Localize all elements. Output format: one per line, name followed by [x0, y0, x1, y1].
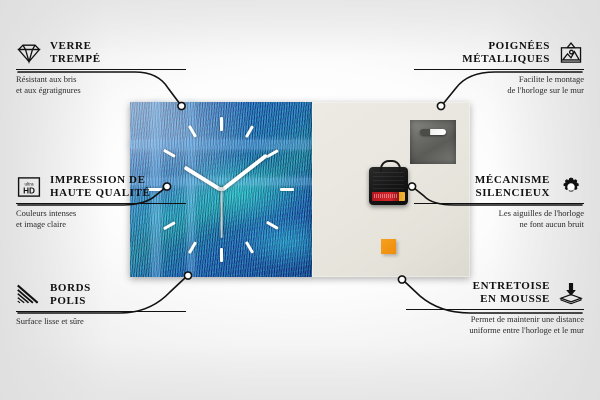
callout-divider — [406, 309, 584, 310]
callout-title-line1: IMPRESSION DE — [50, 174, 150, 187]
diagonal-stripes-icon — [16, 283, 42, 307]
diamond-icon — [16, 41, 42, 65]
press-down-foam-icon — [558, 281, 584, 305]
ultra-hd-icon: ultra HD — [16, 175, 42, 199]
callout-divider — [16, 311, 186, 312]
callout-mecanisme-silencieux[interactable]: MÉCANISME SILENCIEUX Les aiguilles de l'… — [414, 174, 584, 229]
second-hand — [221, 190, 223, 238]
foam-spacer-part — [381, 239, 396, 254]
callout-title: MÉCANISME SILENCIEUX — [475, 174, 550, 199]
quartz-movement — [369, 167, 408, 205]
callout-poignees-metalliques[interactable]: POIGNÉES MÉTALLIQUES Facilite le montage… — [414, 40, 584, 95]
callout-title-line1: BORDS — [50, 282, 91, 295]
hour-marker — [280, 188, 294, 191]
framed-picture-icon — [558, 41, 584, 65]
battery — [372, 192, 405, 201]
callout-divider — [414, 69, 584, 70]
callout-title-line1: ENTRETOISE — [473, 280, 550, 293]
callout-divider — [16, 69, 186, 70]
callout-title: VERRE TREMPÉ — [50, 40, 101, 65]
hanger-slot — [420, 129, 446, 135]
callout-subtitle: Résistant aux bris et aux égratignures — [16, 74, 186, 95]
callout-subtitle: Facilite le montage de l'horloge sur le … — [414, 74, 584, 95]
callout-header: POIGNÉES MÉTALLIQUES — [414, 40, 584, 65]
callout-impression-haute-qualite[interactable]: ultra HD IMPRESSION DE HAUTE QUALITÉ Cou… — [16, 174, 186, 229]
callout-subtitle: Couleurs intenses et image claire — [16, 208, 186, 229]
callout-title-line1: VERRE — [50, 40, 101, 53]
callout-header: ENTRETOISE EN MOUSSE — [406, 280, 584, 305]
callout-title: IMPRESSION DE HAUTE QUALITÉ — [50, 174, 150, 199]
infographic-canvas: VERRE TREMPÉ Résistant aux bris et aux é… — [0, 0, 600, 400]
callout-title-line2: SILENCIEUX — [475, 187, 550, 200]
callout-title: POIGNÉES MÉTALLIQUES — [462, 40, 550, 65]
callout-entretoise-en-mousse[interactable]: ENTRETOISE EN MOUSSE Permet de maintenir… — [406, 280, 584, 335]
callout-title-line2: HAUTE QUALITÉ — [50, 187, 150, 200]
callout-title-line2: EN MOUSSE — [473, 293, 550, 306]
callout-title-line1: MÉCANISME — [475, 174, 550, 187]
svg-text:ultra: ultra — [24, 181, 33, 186]
callout-subtitle: Permet de maintenir une distance uniform… — [406, 314, 584, 335]
callout-header: MÉCANISME SILENCIEUX — [414, 174, 584, 199]
callout-divider — [414, 203, 584, 204]
hour-marker — [220, 248, 223, 262]
callout-title: BORDS POLIS — [50, 282, 91, 307]
hands-center-cap — [219, 187, 223, 191]
callout-title-line2: TREMPÉ — [50, 53, 101, 66]
battery-label — [374, 194, 397, 198]
callout-title: ENTRETOISE EN MOUSSE — [473, 280, 550, 305]
callout-subtitle: Les aiguilles de l'horloge ne font aucun… — [414, 208, 584, 229]
callout-header: VERRE TREMPÉ — [16, 40, 186, 65]
gear-icon — [558, 175, 584, 199]
metal-hanger-part — [410, 120, 456, 164]
callout-subtitle: Surface lisse et sûre — [16, 316, 186, 327]
callout-title-line2: POLIS — [50, 295, 91, 308]
callout-verre-trempe[interactable]: VERRE TREMPÉ Résistant aux bris et aux é… — [16, 40, 186, 95]
callout-divider — [16, 203, 186, 204]
callout-header: ultra HD IMPRESSION DE HAUTE QUALITÉ — [16, 174, 186, 199]
movement-texture — [373, 172, 404, 190]
movement-hook — [380, 160, 401, 172]
callout-title-line2: MÉTALLIQUES — [462, 53, 550, 66]
callout-bords-polis[interactable]: BORDS POLIS Surface lisse et sûre — [16, 282, 186, 327]
callout-title-line1: POIGNÉES — [462, 40, 550, 53]
svg-text:HD: HD — [23, 186, 35, 195]
hour-marker — [220, 117, 223, 131]
callout-header: BORDS POLIS — [16, 282, 186, 307]
